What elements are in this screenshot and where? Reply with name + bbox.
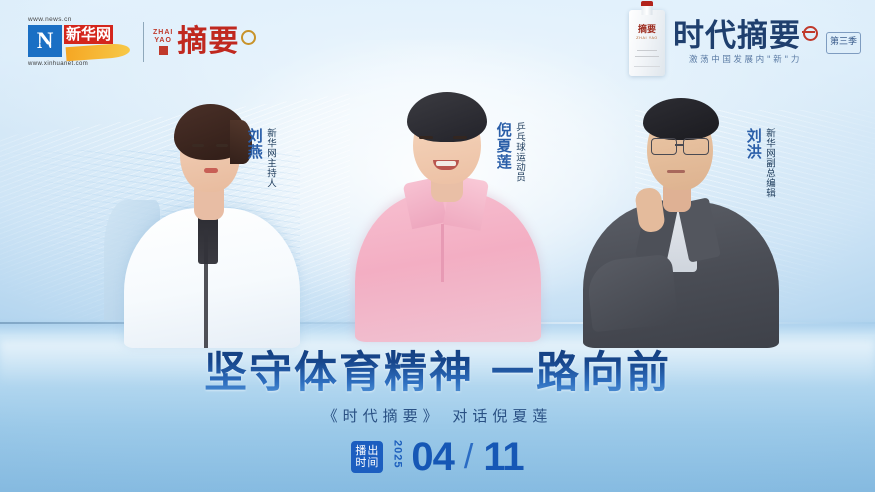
guest-3-mouth <box>667 170 685 173</box>
bottle-label-pinyin: ZHAI YAO <box>636 37 658 41</box>
guest-2-zipper <box>441 224 444 282</box>
guest-2-hair <box>407 92 487 142</box>
bottle-label: 摘要 ZHAI YAO <box>636 26 658 41</box>
program-logo-group[interactable]: 摘要 ZHAI YAO 时代摘要 激荡中国发展内"新"力 第三季 <box>629 10 861 76</box>
guest-2-role: 乒乓球运动员 <box>514 122 525 182</box>
program-slogan: 激荡中国发展内"新"力 <box>673 53 818 65</box>
xinhuanet-logo-group[interactable]: www.news.cn N EWS 新华网 www.xinhuanet.com … <box>26 16 256 68</box>
guest-3-glasses-left-lens <box>651 138 677 155</box>
bottle-line-1 <box>637 50 657 51</box>
page-subtitle: 《时代摘要》 对话倪夏莲 <box>0 405 875 426</box>
guest-2-label: 倪夏莲 乒乓球运动员 <box>495 122 525 182</box>
season-badge-text: 第三季 <box>830 38 857 47</box>
guest-1-eye-left <box>192 144 204 147</box>
guest-1-role: 新华网主持人 <box>265 128 276 188</box>
guest-3-hair <box>643 98 719 140</box>
guest-1-label: 刘燕 新华网主持人 <box>246 128 276 188</box>
zhaiyao-pinyin: ZHAI YAO <box>153 29 173 55</box>
product-bottle-image: 摘要 ZHAI YAO <box>629 10 665 76</box>
guest-1-name: 刘燕 <box>246 128 262 160</box>
zhaiyao-seal-icon <box>159 46 168 55</box>
bottle-line-3 <box>634 66 660 67</box>
guest-3-role: 新华网副总编辑 <box>764 128 775 198</box>
xinhuanet-swoosh-icon <box>66 43 131 61</box>
xinhuanet-logo[interactable]: www.news.cn N EWS 新华网 www.xinhuanet.com <box>26 16 134 68</box>
guest-3-name: 刘洪 <box>745 128 761 160</box>
page-title: 坚守体育精神 一路向前 <box>0 338 875 400</box>
guest-1-figure <box>118 80 304 342</box>
broadcast-date-row: 播出 时间 2025 04 / 11 <box>0 437 875 477</box>
xinhuanet-chinese-name: 新华网 <box>64 25 113 44</box>
poster-stage: www.news.cn N EWS 新华网 www.xinhuanet.com … <box>0 0 875 492</box>
guest-3-figure <box>575 80 787 342</box>
broadcast-day: 11 <box>483 437 523 477</box>
zhaiyao-wordmark: 摘要 <box>177 27 256 57</box>
guest-1-eye-right <box>216 144 228 147</box>
season-badge: 第三季 <box>826 32 861 53</box>
bottle-line-2 <box>635 56 659 57</box>
guest-2-figure <box>355 74 541 342</box>
bottle-label-text: 摘要 <box>638 25 656 35</box>
guest-2-eye-right <box>453 136 467 139</box>
zhaiyao-pinyin-line1: ZHAI <box>153 29 173 36</box>
zhaiyao-wordmark-text: 摘要 <box>177 24 239 59</box>
broadcast-date-separator: / <box>464 438 473 477</box>
guest-2-name: 倪夏莲 <box>495 122 511 170</box>
guest-1-mouth <box>204 168 218 173</box>
guest-3-glasses-bridge <box>675 144 683 146</box>
guest-3-label: 刘洪 新华网副总编辑 <box>745 128 775 198</box>
program-ring-icon <box>803 26 818 41</box>
guest-2-teeth <box>436 161 456 166</box>
guest-portrait-2: 倪夏莲 乒乓球运动员 <box>355 74 541 342</box>
broadcast-month: 04 <box>411 437 454 477</box>
logo-divider <box>143 22 144 62</box>
zhaiyao-ring-icon <box>241 30 256 45</box>
program-title-block: 时代摘要 激荡中国发展内"新"力 <box>673 21 818 65</box>
program-title-text: 时代摘要 <box>673 18 801 54</box>
broadcast-badge-line2: 时间 <box>355 457 379 469</box>
program-title: 时代摘要 <box>673 21 818 52</box>
bottle-cap <box>641 1 653 6</box>
xinhuanet-news-wordmark: EWS <box>30 41 62 58</box>
zhaiyao-logo[interactable]: ZHAI YAO 摘要 <box>153 27 256 57</box>
xinhuanet-url-top: www.news.cn <box>28 16 72 23</box>
guest-1-placket <box>204 230 208 348</box>
xinhuanet-url-bottom: www.xinhuanet.com <box>28 61 88 67</box>
guest-3-glasses-right-lens <box>683 138 709 155</box>
guest-portrait-1: 刘燕 新华网主持人 <box>118 80 304 342</box>
broadcast-year: 2025 <box>391 440 403 468</box>
broadcast-time-badge: 播出 时间 <box>351 441 383 474</box>
guest-2-eye-left <box>419 136 433 139</box>
zhaiyao-pinyin-line2: YAO <box>154 37 172 44</box>
guest-portrait-3: 刘洪 新华网副总编辑 <box>575 80 787 342</box>
